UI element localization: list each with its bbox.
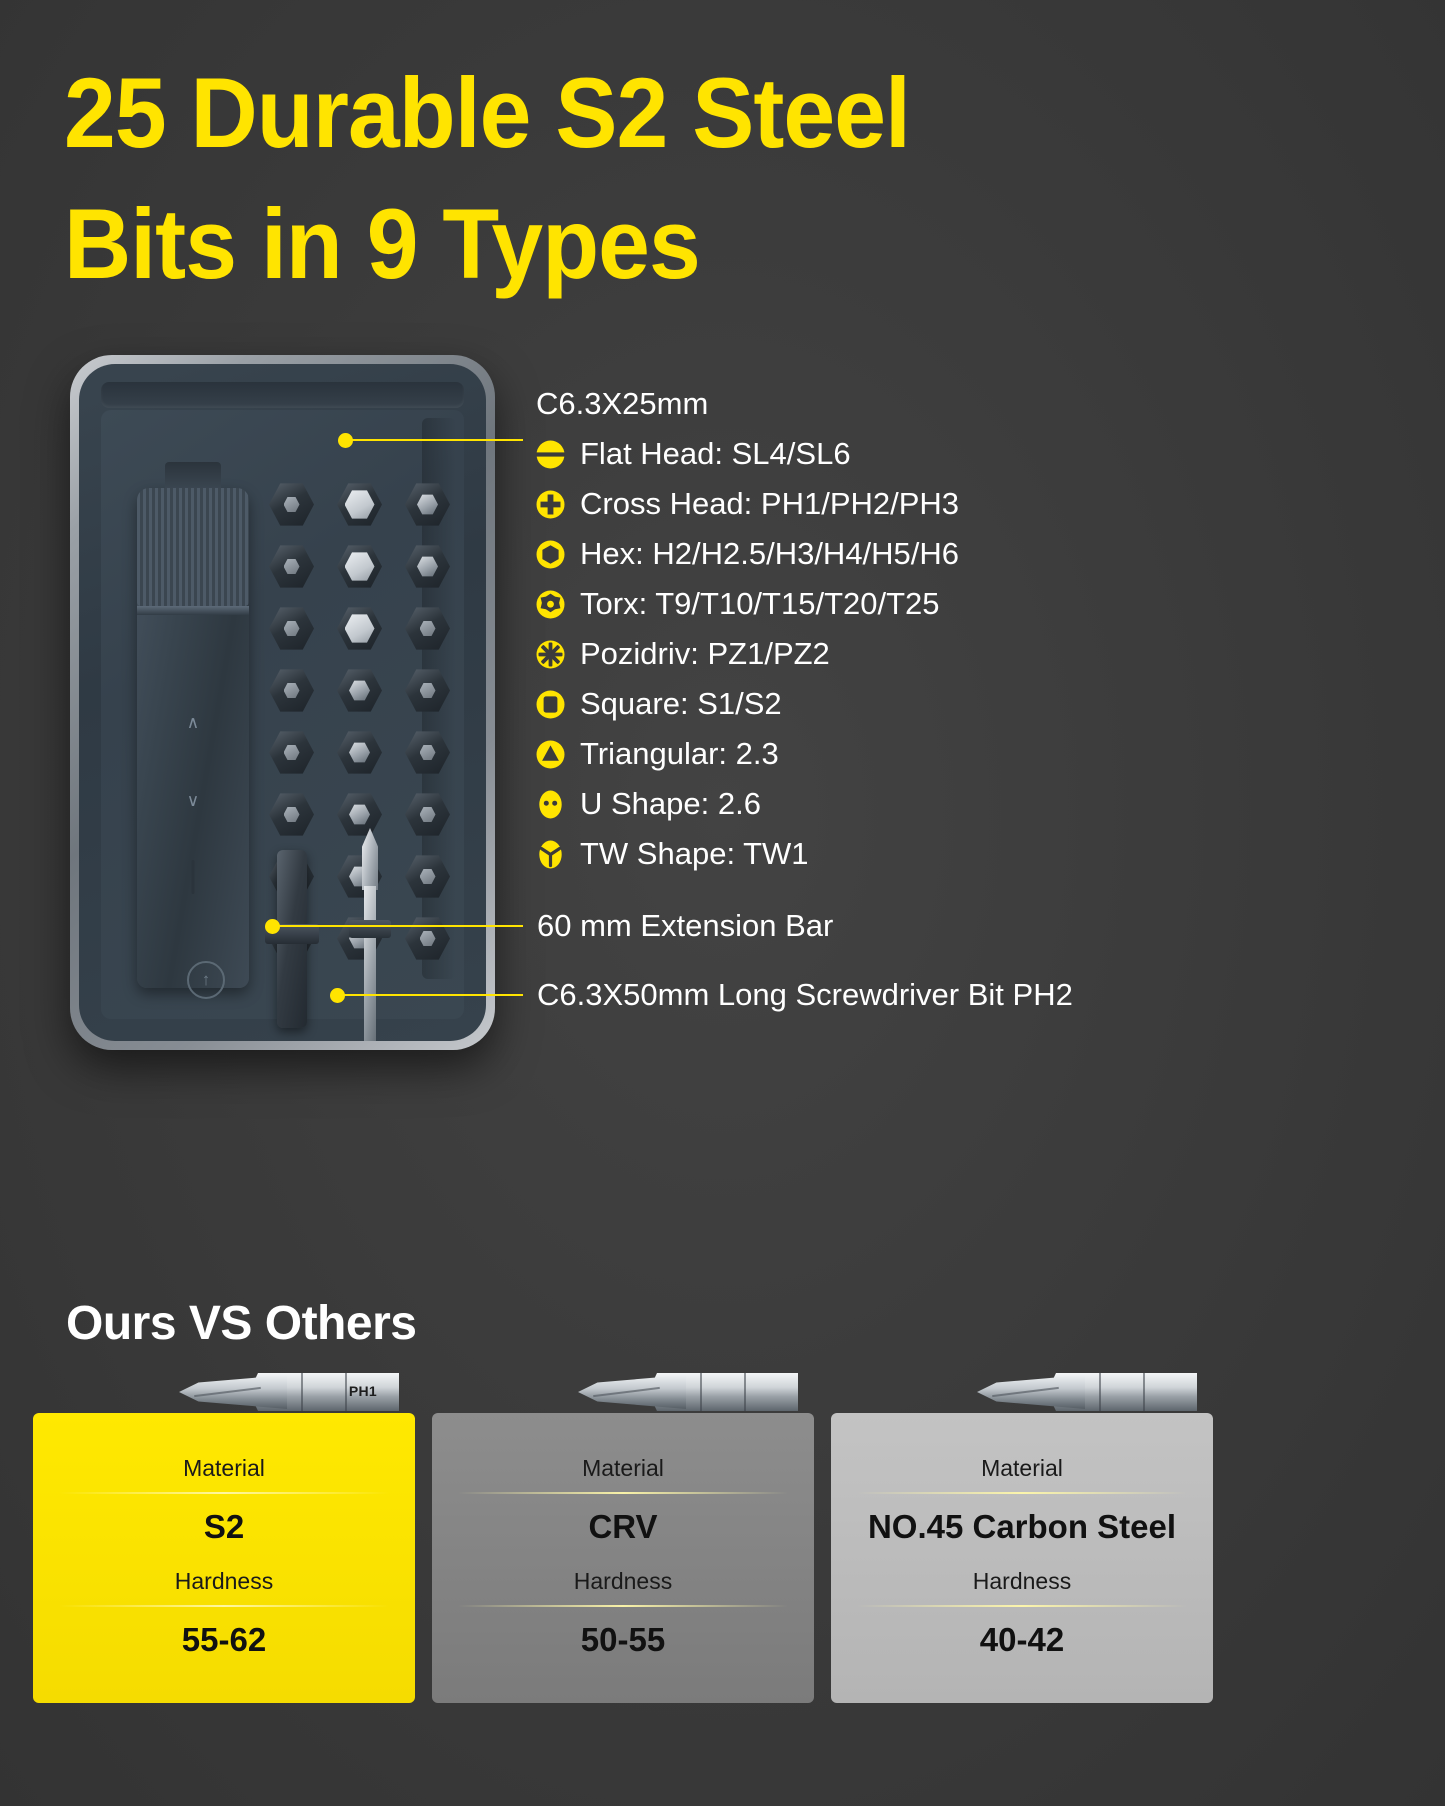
triangular-icon	[534, 738, 567, 771]
feature-row-tw-shape: TW Shape: TW1	[534, 829, 1314, 879]
screwdriver-bit-icon	[550, 1361, 798, 1423]
callout-extension-bar: 60 mm Extension Bar	[537, 908, 833, 944]
feature-label: Cross Head: PH1/PH2/PH3	[580, 486, 959, 522]
feature-label: Flat Head: SL4/SL6	[580, 436, 851, 472]
headline-line-1: 25 Durable S2 Steel	[64, 48, 1117, 179]
bit-socket	[269, 606, 314, 651]
material-label: Material	[831, 1455, 1213, 1492]
long-bit-tip	[362, 828, 378, 890]
bit-socket	[269, 730, 314, 775]
callout-long-bit: C6.3X50mm Long Screwdriver Bit PH2	[537, 977, 1073, 1013]
hardness-value: 50-55	[432, 1621, 814, 1681]
product-case-image: ∧ ∨	[70, 355, 495, 1050]
divider	[59, 1492, 389, 1494]
bit-type-list: C6.3X25mm Flat Head: SL4/SL6 Cross Head:…	[534, 383, 1314, 879]
u-shape-icon	[534, 788, 567, 821]
bit-socket	[269, 482, 314, 527]
case-lid	[101, 382, 464, 408]
comparison-card-carbon-steel: Material NO.45 Carbon Steel Hardness 40-…	[831, 1413, 1213, 1703]
leader-line-long-bit	[340, 994, 523, 996]
feature-row-hex: Hex: H2/H2.5/H3/H4/H5/H6	[534, 529, 1314, 579]
divider	[458, 1492, 788, 1494]
material-label: Material	[432, 1455, 814, 1492]
material-value: NO.45 Carbon Steel	[831, 1508, 1213, 1568]
hardness-value: 55-62	[33, 1621, 415, 1681]
feature-label: Square: S1/S2	[580, 686, 782, 722]
feature-row-u-shape: U Shape: 2.6	[534, 779, 1314, 829]
comparison-card-crv: Material CRV Hardness 50-55	[432, 1413, 814, 1703]
bit-socket	[337, 606, 382, 651]
feature-row-square: Square: S1/S2	[534, 679, 1314, 729]
bit-socket	[405, 606, 450, 651]
divider	[857, 1492, 1187, 1494]
driver-collar	[137, 488, 249, 606]
screwdriver-bit-icon	[949, 1361, 1197, 1423]
bit-socket	[337, 482, 382, 527]
flat-head-icon	[534, 438, 567, 471]
divider	[59, 1605, 389, 1607]
square-icon	[534, 688, 567, 721]
long-screwdriver-bit	[359, 828, 381, 1041]
driver-down-button: ∨	[180, 788, 206, 814]
bit-socket	[405, 916, 450, 961]
material-value: S2	[33, 1508, 415, 1568]
extension-bar	[277, 850, 307, 1028]
bit-socket	[337, 668, 382, 713]
bit-socket	[405, 854, 450, 899]
driver-slot	[192, 860, 195, 894]
pozidriv-icon	[534, 638, 567, 671]
feature-label: Hex: H2/H2.5/H3/H4/H5/H6	[580, 536, 959, 572]
case-interior: ∧ ∨	[79, 364, 486, 1041]
tw-shape-icon	[534, 838, 567, 871]
hex-icon	[534, 538, 567, 571]
feature-row-flat-head: Flat Head: SL4/SL6	[534, 429, 1314, 479]
bit-socket	[337, 730, 382, 775]
hardness-label: Hardness	[33, 1568, 415, 1605]
bit-socket	[269, 544, 314, 589]
driver-band	[137, 606, 249, 615]
feature-row-pozidriv: Pozidriv: PZ1/PZ2	[534, 629, 1314, 679]
feature-row-triangular: Triangular: 2.3	[534, 729, 1314, 779]
torx-icon	[534, 588, 567, 621]
feature-label: Torx: T9/T10/T15/T20/T25	[580, 586, 940, 622]
bit-socket	[405, 668, 450, 713]
feature-label: Triangular: 2.3	[580, 736, 779, 772]
screwdriver-bit-icon: PH1	[151, 1361, 399, 1423]
electric-screwdriver-body: ∧ ∨	[137, 488, 249, 988]
feature-row-torx: Torx: T9/T10/T15/T20/T25	[534, 579, 1314, 629]
leader-line-extension-bar	[274, 925, 523, 927]
hardness-label: Hardness	[831, 1568, 1213, 1605]
case-tray: ∧ ∨	[101, 410, 464, 1019]
bit-socket	[269, 792, 314, 837]
bit-socket	[405, 482, 450, 527]
cross-head-icon	[534, 488, 567, 521]
bit-socket	[269, 668, 314, 713]
feature-label: U Shape: 2.6	[580, 786, 761, 822]
driver-up-button: ∧	[180, 710, 206, 736]
infographic-page: 25 Durable S2 Steel Bits in 9 Types ∧ ∨	[0, 0, 1445, 1806]
leader-line-bits	[348, 439, 523, 441]
comparison-cards: PH1 Material S2 Hardness 55-62 Material …	[33, 1413, 1413, 1703]
bit-socket	[405, 730, 450, 775]
page-title: 25 Durable S2 Steel Bits in 9 Types	[64, 48, 1184, 309]
comparison-title: Ours VS Others	[66, 1296, 416, 1351]
material-label: Material	[33, 1455, 415, 1492]
bit-socket	[405, 544, 450, 589]
bit-size-heading: C6.3X25mm	[536, 383, 1314, 425]
feature-label: Pozidriv: PZ1/PZ2	[580, 636, 830, 672]
long-bit-shaft	[364, 886, 376, 1041]
hardness-value: 40-42	[831, 1621, 1213, 1681]
bit-socket	[405, 792, 450, 837]
headline-line-2: Bits in 9 Types	[64, 179, 1117, 310]
long-bit-clip	[349, 920, 391, 938]
comparison-card-ours: PH1 Material S2 Hardness 55-62	[33, 1413, 415, 1703]
arrow-up-icon: ↑	[187, 961, 225, 999]
bit-stamp-label: PH1	[349, 1383, 377, 1399]
hardness-label: Hardness	[432, 1568, 814, 1605]
divider	[458, 1605, 788, 1607]
feature-row-cross-head: Cross Head: PH1/PH2/PH3	[534, 479, 1314, 529]
material-value: CRV	[432, 1508, 814, 1568]
feature-label: TW Shape: TW1	[580, 836, 809, 872]
divider	[857, 1605, 1187, 1607]
bit-socket	[337, 544, 382, 589]
